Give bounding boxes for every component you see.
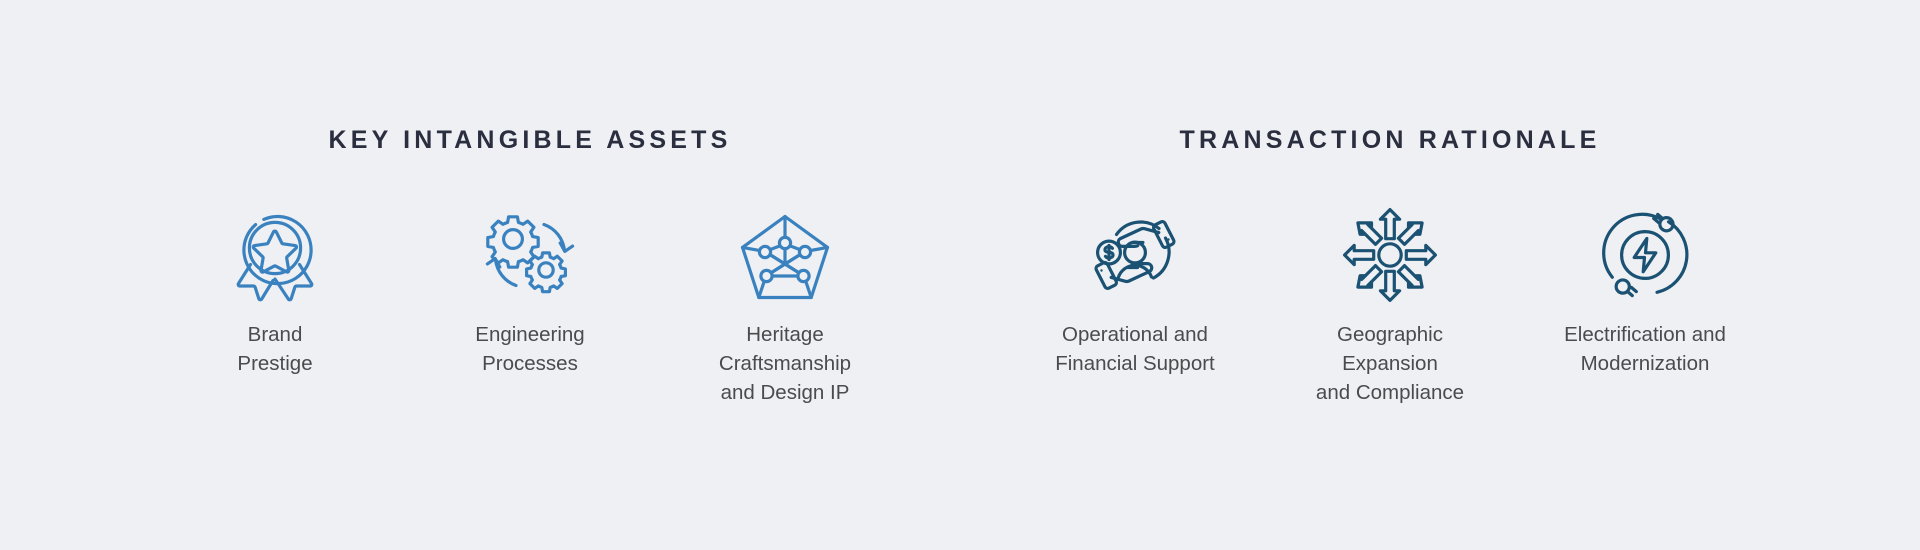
item-caption: Operational and Financial Support xyxy=(1055,320,1215,378)
award-ribbon-star-icon xyxy=(227,207,323,303)
eight-arrows-expansion-icon xyxy=(1342,207,1438,303)
item-brand-prestige: Brand Prestige xyxy=(148,207,403,378)
item-caption: Brand Prestige xyxy=(237,320,312,378)
panel-transaction-rationale: TRANSACTION RATIONALE xyxy=(960,0,1820,407)
gears-cycle-icon xyxy=(482,207,578,303)
item-caption: Engineering Processes xyxy=(475,320,584,378)
hands-supporting-person-dollar-icon xyxy=(1087,207,1183,303)
infographic-board: KEY INTANGIBLE ASSETS Brand Prestige xyxy=(0,0,1920,550)
item-caption: Electrification and Modernization xyxy=(1564,320,1726,378)
pentagon-network-icon xyxy=(737,207,833,303)
item-group-right: Operational and Financial Support xyxy=(1008,207,1773,407)
item-caption: Heritage Craftsmanship and Design IP xyxy=(719,320,851,407)
lightning-plug-circle-icon xyxy=(1597,207,1693,303)
item-heritage-craftsmanship: Heritage Craftsmanship and Design IP xyxy=(658,207,913,407)
item-engineering-processes: Engineering Processes xyxy=(403,207,658,378)
panel-title-left: KEY INTANGIBLE ASSETS xyxy=(328,128,731,153)
panel-title-right: TRANSACTION RATIONALE xyxy=(1179,128,1600,153)
item-group-left: Brand Prestige xyxy=(148,207,913,407)
item-geographic-expansion: Geographic Expansion and Compliance xyxy=(1263,207,1518,407)
item-operational-financial-support: Operational and Financial Support xyxy=(1008,207,1263,378)
item-electrification-modernization: Electrification and Modernization xyxy=(1518,207,1773,378)
item-caption: Geographic Expansion and Compliance xyxy=(1316,320,1464,407)
panel-key-intangible-assets: KEY INTANGIBLE ASSETS Brand Prestige xyxy=(100,0,960,407)
